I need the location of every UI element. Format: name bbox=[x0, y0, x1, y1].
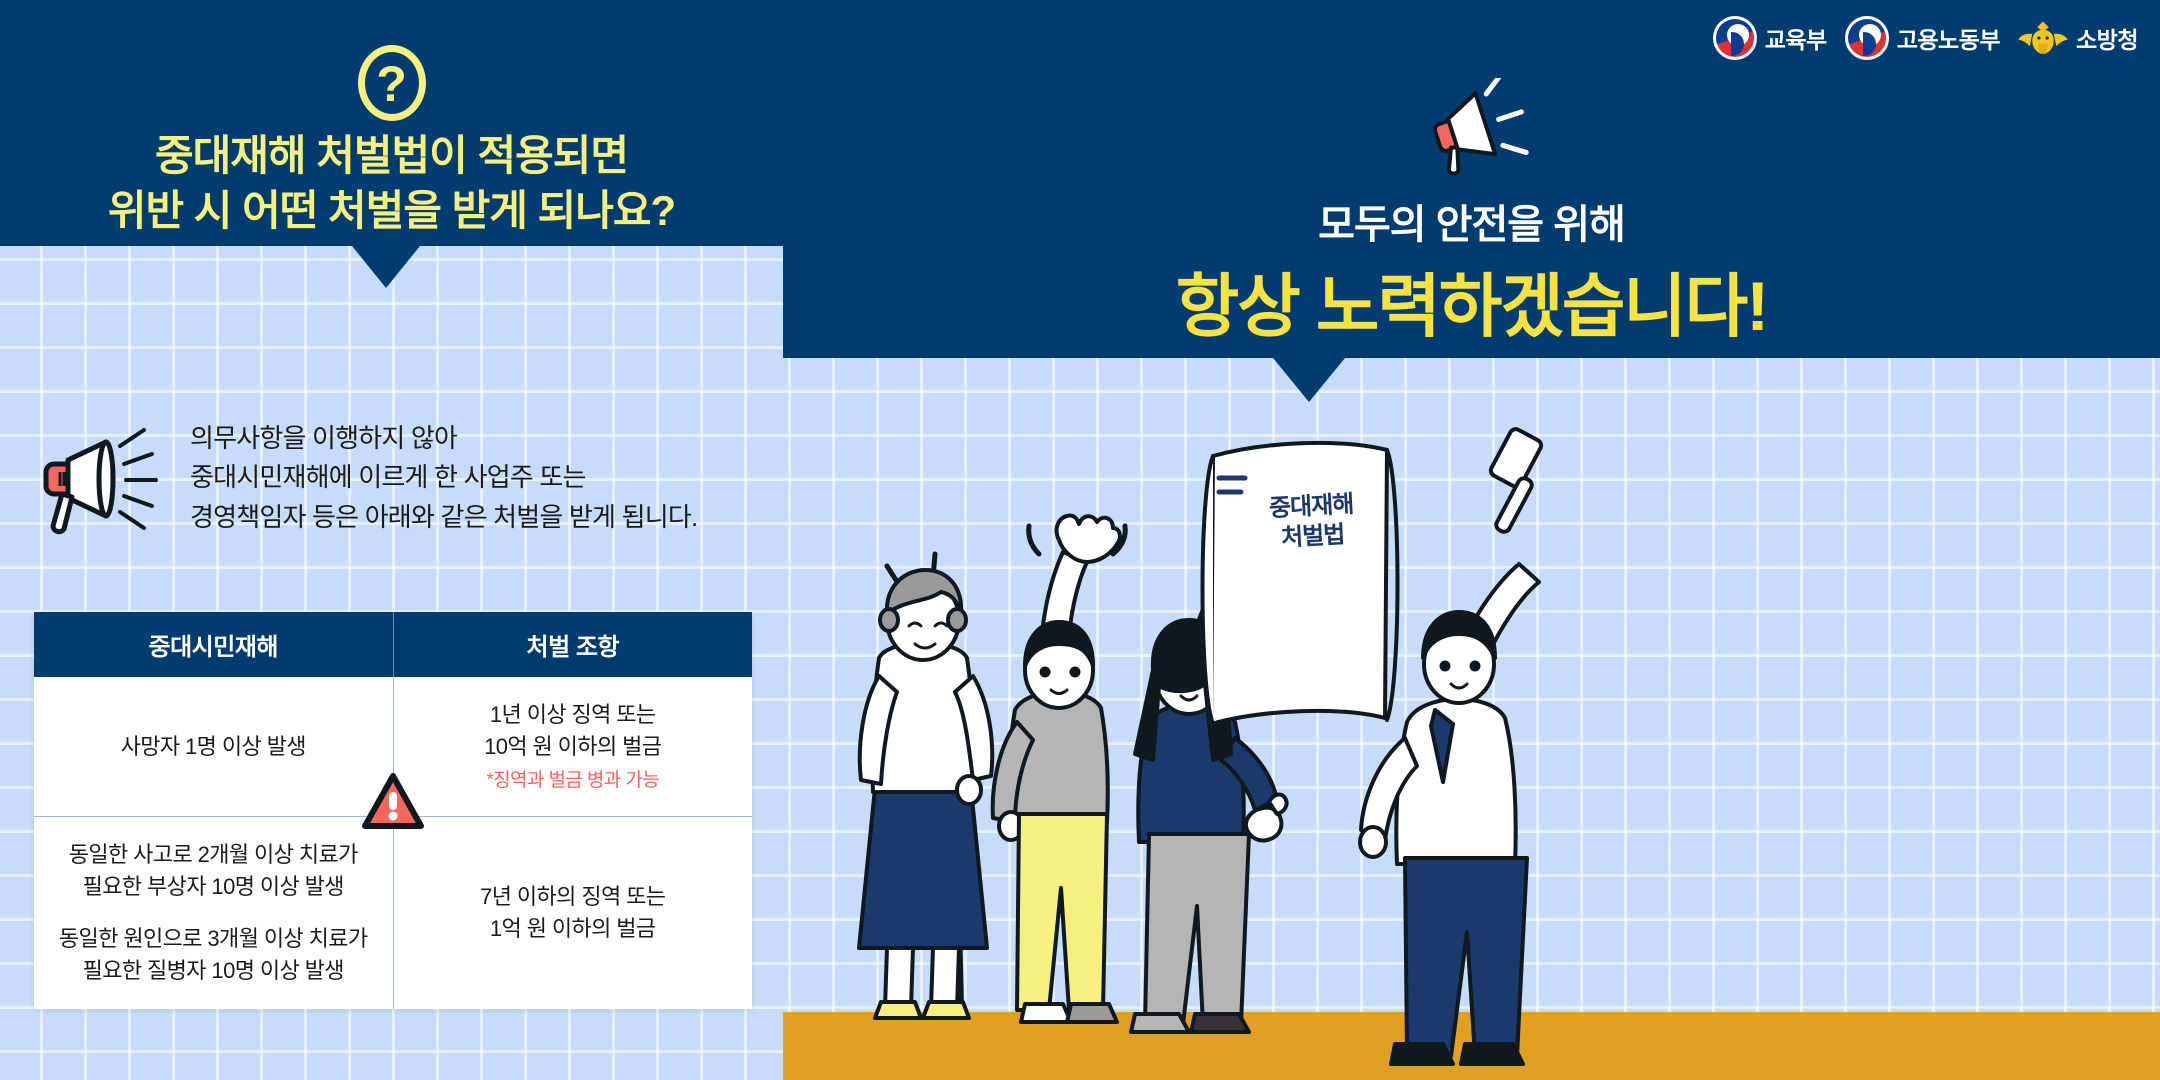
question-mark-icon: ? bbox=[358, 45, 426, 121]
cause-line: 필요한 부상자 10명 이상 발생 bbox=[44, 871, 383, 903]
right-subtitle: 모두의 안전을 위해 bbox=[783, 192, 2160, 250]
penalty-line: 1년 이상 징역 또는 bbox=[404, 699, 743, 731]
taegeuk-icon bbox=[1845, 16, 1889, 60]
cell-cause-2: 동일한 사고로 2개월 이상 치료가 필요한 부상자 10명 이상 발생 동일한… bbox=[34, 817, 393, 1009]
penalty-line: 10억 원 이하의 벌금 bbox=[404, 731, 743, 763]
illustration-figures bbox=[783, 358, 2160, 1080]
megaphone-icon bbox=[40, 418, 170, 538]
penalty-note: *징역과 벌금 병과 가능 bbox=[404, 767, 743, 795]
ministry-fire-agency: 소방청 bbox=[2018, 19, 2138, 57]
cell-penalty-1: 1년 이상 징역 또는 10억 원 이하의 벌금 *징역과 벌금 병과 가능 bbox=[393, 677, 752, 817]
figure-young-man bbox=[993, 515, 1126, 1022]
right-headline: 항상 노력하겠습니다! bbox=[783, 250, 2160, 350]
cause-line: 사망자 1명 이상 발생 bbox=[44, 731, 383, 763]
right-header-panel: 교육부 고용노동부 소방청 bbox=[783, 0, 2160, 358]
figure-elder-woman bbox=[859, 554, 992, 1018]
penalty-line: 1억 원 이하의 벌금 bbox=[404, 913, 743, 945]
law-scroll bbox=[1203, 443, 1398, 724]
left-header-panel: ? 중대재해 처벌법이 적용되면 위반 시 어떤 처벌을 받게 되나요? bbox=[0, 0, 783, 246]
ministry-education: 교육부 bbox=[1713, 16, 1827, 60]
ministry-employment-labor-label: 고용노동부 bbox=[1897, 21, 2000, 55]
fire-agency-emblem-icon bbox=[2018, 19, 2068, 57]
people-celebrating-illustration: 중대재해 처벌법 bbox=[783, 358, 2160, 1080]
ministry-logo-bar: 교육부 고용노동부 소방청 bbox=[1713, 16, 2138, 60]
table-header-penalty: 처벌 조항 bbox=[393, 612, 752, 677]
cause-line: 동일한 사고로 2개월 이상 치료가 bbox=[44, 839, 383, 871]
page-title: 중대재해 처벌법이 적용되면 위반 시 어떤 처벌을 받게 되나요? bbox=[0, 128, 783, 239]
warning-triangle-icon bbox=[361, 772, 425, 832]
notice-block: 의무사항을 이행하지 않아 중대시민재해에 이르게 한 사업주 또는 경영책임자… bbox=[40, 418, 760, 538]
ministry-employment-labor: 고용노동부 bbox=[1845, 16, 2000, 60]
megaphone-icon bbox=[1412, 78, 1532, 178]
penalty-line: 7년 이하의 징역 또는 bbox=[404, 881, 743, 913]
notice-text: 의무사항을 이행하지 않아 중대시민재해에 이르게 한 사업주 또는 경영책임자… bbox=[190, 419, 697, 538]
scroll-label: 중대재해 처벌법 bbox=[1236, 488, 1389, 556]
taegeuk-icon bbox=[1713, 16, 1757, 60]
table-header-cause: 중대시민재해 bbox=[34, 612, 393, 677]
cause-line: 동일한 원인으로 3개월 이상 치료가 bbox=[44, 923, 383, 955]
cause-line: 필요한 질병자 10명 이상 발생 bbox=[44, 955, 383, 987]
table-header-row: 중대시민재해 처벌 조항 bbox=[34, 612, 752, 677]
penalty-table: 중대시민재해 처벌 조항 사망자 1명 이상 발생 1년 이상 징역 또는 10… bbox=[34, 612, 752, 1009]
ministry-fire-agency-label: 소방청 bbox=[2076, 21, 2138, 55]
cell-penalty-2: 7년 이하의 징역 또는 1억 원 이하의 벌금 bbox=[393, 817, 752, 1009]
cell-cause-1: 사망자 1명 이상 발생 bbox=[34, 677, 393, 817]
table-row: 동일한 사고로 2개월 이상 치료가 필요한 부상자 10명 이상 발생 동일한… bbox=[34, 817, 752, 1009]
ministry-education-label: 교육부 bbox=[1765, 21, 1827, 55]
